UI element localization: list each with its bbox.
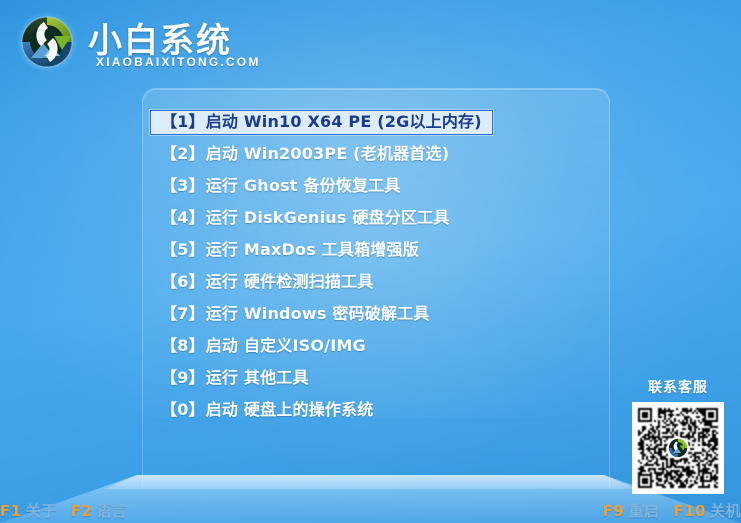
boot-menu-item-label: 启动 Win2003PE (老机器首选) bbox=[206, 146, 449, 162]
footer-fkey-label: 关机 bbox=[710, 502, 741, 520]
boot-menu-item-key: 【6】 bbox=[161, 274, 205, 290]
footer-keys-left: F1关于F2语言 bbox=[0, 500, 127, 521]
footer-fkey[interactable]: F9 bbox=[603, 502, 625, 520]
boot-menu-item-label: 运行 MaxDos 工具箱增强版 bbox=[206, 242, 419, 258]
boot-menu-row: 【6】运行 硬件检测扫描工具 bbox=[150, 266, 600, 298]
boot-menu-item-key: 【3】 bbox=[161, 178, 205, 194]
boot-menu-item-3[interactable]: 【3】运行 Ghost 备份恢复工具 bbox=[150, 174, 412, 199]
footer-fkey[interactable]: F2 bbox=[71, 502, 93, 520]
footer-keys-right: F9重启F10关机 bbox=[603, 500, 741, 521]
boot-menu-row: 【1】启动 Win10 X64 PE (2G以上内存) bbox=[150, 106, 600, 138]
boot-menu-row: 【7】运行 Windows 密码破解工具 bbox=[150, 298, 600, 330]
boot-menu-item-label: 启动 Win10 X64 PE (2G以上内存) bbox=[206, 114, 482, 130]
boot-menu-item-key: 【5】 bbox=[161, 242, 205, 258]
brand-name-en: XIAOBAIXITONG.COM bbox=[96, 55, 261, 69]
customer-service-label: 联系客服 bbox=[628, 377, 728, 397]
footer-fkey[interactable]: F1 bbox=[0, 502, 22, 520]
boot-menu-item-key: 【7】 bbox=[161, 306, 205, 322]
boot-menu-item-9[interactable]: 【9】运行 其他工具 bbox=[150, 366, 320, 391]
boot-menu-row: 【3】运行 Ghost 备份恢复工具 bbox=[150, 170, 600, 202]
boot-menu-item-5[interactable]: 【5】运行 MaxDos 工具箱增强版 bbox=[150, 238, 430, 263]
boot-menu-item-label: 启动 硬盘上的操作系统 bbox=[206, 402, 374, 418]
boot-menu-row: 【5】运行 MaxDos 工具箱增强版 bbox=[150, 234, 600, 266]
boot-menu-row: 【2】启动 Win2003PE (老机器首选) bbox=[150, 138, 600, 170]
boot-menu-row: 【8】启动 自定义ISO/IMG bbox=[150, 330, 600, 362]
boot-menu-item-label: 运行 Ghost 备份恢复工具 bbox=[206, 178, 401, 194]
qr-code-icon[interactable] bbox=[632, 402, 724, 494]
boot-menu-item-key: 【0】 bbox=[161, 402, 205, 418]
boot-menu-item-7[interactable]: 【7】运行 Windows 密码破解工具 bbox=[150, 302, 441, 327]
boot-menu-item-key: 【4】 bbox=[161, 210, 205, 226]
boot-menu-item-label: 运行 其他工具 bbox=[206, 370, 309, 386]
footer-fkey-label: 关于 bbox=[26, 502, 57, 520]
customer-service-block: 联系客服 bbox=[628, 377, 728, 494]
qr-center-logo-icon bbox=[667, 437, 689, 459]
boot-menu-screen: 小白系统 XIAOBAIXITONG.COM 【1】启动 Win10 X64 P… bbox=[0, 0, 741, 523]
boot-menu-item-2[interactable]: 【2】启动 Win2003PE (老机器首选) bbox=[150, 142, 460, 167]
boot-menu-item-key: 【2】 bbox=[161, 146, 205, 162]
boot-menu-item-key: 【8】 bbox=[161, 338, 205, 354]
boot-menu-item-4[interactable]: 【4】运行 DiskGenius 硬盘分区工具 bbox=[150, 206, 461, 231]
footer-fkey-label: 语言 bbox=[96, 502, 127, 520]
brand-logo: 小白系统 XIAOBAIXITONG.COM bbox=[8, 4, 268, 80]
boot-menu-item-label: 启动 自定义ISO/IMG bbox=[206, 338, 366, 354]
boot-menu-row: 【0】启动 硬盘上的操作系统 bbox=[150, 394, 600, 426]
boot-menu-item-1[interactable]: 【1】启动 Win10 X64 PE (2G以上内存) bbox=[150, 110, 493, 135]
boot-menu-item-8[interactable]: 【8】启动 自定义ISO/IMG bbox=[150, 334, 377, 359]
boot-menu-item-6[interactable]: 【6】运行 硬件检测扫描工具 bbox=[150, 270, 385, 295]
boot-menu-item-10[interactable]: 【0】启动 硬盘上的操作系统 bbox=[150, 398, 385, 423]
recycle-circle-logo-icon bbox=[14, 10, 80, 74]
footer-fkey-label: 重启 bbox=[628, 502, 659, 520]
boot-menu-item-label: 运行 硬件检测扫描工具 bbox=[206, 274, 374, 290]
boot-menu-list: 【1】启动 Win10 X64 PE (2G以上内存)【2】启动 Win2003… bbox=[150, 106, 600, 426]
footer-fkey[interactable]: F10 bbox=[673, 502, 706, 520]
boot-menu-row: 【9】运行 其他工具 bbox=[150, 362, 600, 394]
boot-menu-item-label: 运行 DiskGenius 硬盘分区工具 bbox=[206, 210, 450, 226]
boot-menu-item-key: 【9】 bbox=[161, 370, 205, 386]
boot-menu-item-key: 【1】 bbox=[161, 114, 205, 130]
boot-menu-row: 【4】运行 DiskGenius 硬盘分区工具 bbox=[150, 202, 600, 234]
boot-menu-item-label: 运行 Windows 密码破解工具 bbox=[206, 306, 430, 322]
